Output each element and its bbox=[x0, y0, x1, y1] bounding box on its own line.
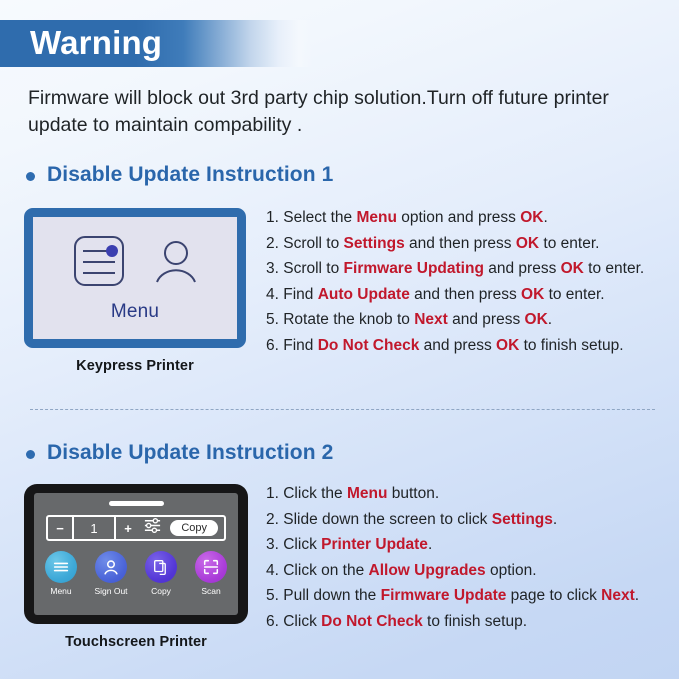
step-text: and press bbox=[448, 311, 525, 328]
step-text: to enter. bbox=[539, 235, 599, 252]
instruction-step: 5. Pull down the Firmware Update page to… bbox=[266, 583, 678, 609]
step-keyword: OK bbox=[561, 260, 584, 277]
step-text: and then press bbox=[405, 235, 516, 252]
keypress-screen-icons bbox=[71, 233, 199, 294]
step-text: option. bbox=[486, 562, 537, 579]
keypress-printer-screen: Menu bbox=[33, 217, 237, 339]
section-heading-1-label: Disable Update Instruction 1 bbox=[47, 163, 333, 187]
app-scan-label: Scan bbox=[201, 587, 220, 596]
banner-title: Warning bbox=[30, 20, 162, 67]
instruction-step: 1. Click the Menu button. bbox=[266, 481, 678, 507]
step-keyword: Settings bbox=[492, 511, 553, 528]
keypress-printer-figure: Menu Keypress Printer bbox=[24, 208, 246, 374]
instruction-step: 5. Rotate the knob to Next and press OK. bbox=[266, 307, 678, 333]
section-heading-1: Disable Update Instruction 1 bbox=[26, 163, 333, 187]
keypress-printer-caption: Keypress Printer bbox=[24, 358, 246, 374]
step-keyword: OK bbox=[521, 286, 544, 303]
instruction-step: 3. Scroll to Firmware Updating and press… bbox=[266, 256, 678, 282]
step-keyword: Menu bbox=[347, 485, 387, 502]
step-keyword: Next bbox=[601, 587, 635, 604]
step-number: 1. bbox=[266, 485, 283, 502]
step-keyword: Firmware Updating bbox=[344, 260, 484, 277]
step-keyword: Printer Update bbox=[321, 536, 428, 553]
app-menu-label: Menu bbox=[50, 587, 71, 596]
app-copy[interactable]: Copy bbox=[144, 551, 179, 596]
step-text: to finish setup. bbox=[519, 337, 623, 354]
step-number: 3. bbox=[266, 260, 283, 277]
touchscreen-toolbar: − 1 + bbox=[46, 515, 226, 541]
step-text: to finish setup. bbox=[423, 613, 527, 630]
instruction-step: 6. Click Do Not Check to finish setup. bbox=[266, 609, 678, 635]
step-text: button. bbox=[387, 485, 439, 502]
intro-paragraph: Firmware will block out 3rd party chip s… bbox=[28, 85, 628, 139]
step-text: Pull down the bbox=[283, 587, 380, 604]
step-number: 6. bbox=[266, 337, 283, 354]
step-text: and press bbox=[419, 337, 496, 354]
step-text: Click the bbox=[283, 485, 347, 502]
hamburger-icon[interactable] bbox=[45, 551, 77, 583]
touchscreen-app-row: Menu Sign Out bbox=[44, 551, 229, 596]
step-text: option and press bbox=[397, 209, 520, 226]
step-keyword: OK bbox=[496, 337, 519, 354]
step-number: 5. bbox=[266, 311, 283, 328]
settings-sliders-icon[interactable] bbox=[143, 516, 162, 540]
step-number: 2. bbox=[266, 511, 283, 528]
bullet-icon bbox=[26, 172, 35, 181]
step-number: 4. bbox=[266, 562, 283, 579]
step-keyword: Do Not Check bbox=[318, 337, 420, 354]
step-keyword: OK bbox=[516, 235, 539, 252]
section-divider bbox=[30, 409, 655, 410]
warning-instruction-page: Warning Firmware will block out 3rd part… bbox=[0, 0, 679, 679]
step-text: . bbox=[543, 209, 547, 226]
step-keyword: OK bbox=[520, 209, 543, 226]
copy-button[interactable]: Copy bbox=[170, 520, 218, 536]
app-sign-out-label: Sign Out bbox=[94, 587, 127, 596]
step-keyword: Do Not Check bbox=[321, 613, 423, 630]
step-number: 2. bbox=[266, 235, 283, 252]
step-text: Slide down the screen to click bbox=[283, 511, 492, 528]
step-text: to enter. bbox=[584, 260, 644, 277]
stepper-value: 1 bbox=[74, 517, 114, 539]
step-text: Rotate the knob to bbox=[283, 311, 414, 328]
instruction-step: 6. Find Do Not Check and press OK to fin… bbox=[266, 333, 678, 359]
touchscreen-printer-figure: − 1 + bbox=[24, 484, 248, 650]
step-text: . bbox=[548, 311, 552, 328]
step-text: . bbox=[428, 536, 432, 553]
menu-list-icon bbox=[71, 233, 127, 294]
step-text: Find bbox=[283, 286, 317, 303]
step-text: to enter. bbox=[544, 286, 604, 303]
keypress-screen-menu-label: Menu bbox=[111, 301, 159, 323]
app-scan[interactable]: Scan bbox=[194, 551, 229, 596]
section-heading-2: Disable Update Instruction 2 bbox=[26, 441, 333, 465]
section-heading-2-label: Disable Update Instruction 2 bbox=[47, 441, 333, 465]
touchscreen-printer-screen: − 1 + bbox=[34, 493, 238, 615]
stepper-increment-button[interactable]: + bbox=[114, 517, 140, 539]
step-text: . bbox=[635, 587, 639, 604]
touchscreen-printer-caption: Touchscreen Printer bbox=[24, 634, 248, 650]
step-number: 6. bbox=[266, 613, 283, 630]
instruction-step: 4. Find Auto Update and then press OK to… bbox=[266, 282, 678, 308]
step-text: Scroll to bbox=[283, 260, 343, 277]
app-menu[interactable]: Menu bbox=[44, 551, 79, 596]
instruction-step: 2. Slide down the screen to click Settin… bbox=[266, 507, 678, 533]
step-number: 1. bbox=[266, 209, 283, 226]
person-icon[interactable] bbox=[95, 551, 127, 583]
step-text: . bbox=[553, 511, 557, 528]
person-icon bbox=[153, 236, 199, 291]
step-text: Find bbox=[283, 337, 317, 354]
instruction-step: 3. Click Printer Update. bbox=[266, 532, 678, 558]
step-text: Select the bbox=[283, 209, 356, 226]
step-keyword: Next bbox=[414, 311, 448, 328]
step-keyword: OK bbox=[525, 311, 548, 328]
step-keyword: Allow Upgrades bbox=[369, 562, 486, 579]
instruction-list-2: 1. Click the Menu button.2. Slide down t… bbox=[266, 481, 678, 635]
step-text: Scroll to bbox=[283, 235, 343, 252]
app-copy-label: Copy bbox=[151, 587, 171, 596]
step-keyword: Settings bbox=[344, 235, 405, 252]
step-number: 3. bbox=[266, 536, 283, 553]
step-text: Click on the bbox=[283, 562, 368, 579]
instruction-step: 1. Select the Menu option and press OK. bbox=[266, 205, 678, 231]
step-keyword: Firmware Update bbox=[381, 587, 507, 604]
step-text: Click bbox=[283, 536, 321, 553]
instruction-step: 2. Scroll to Settings and then press OK … bbox=[266, 231, 678, 257]
keypress-printer-frame: Menu bbox=[24, 208, 246, 348]
scan-frame-icon[interactable] bbox=[195, 551, 227, 583]
touchscreen-printer-bezel: − 1 + bbox=[24, 484, 248, 624]
stepper-decrement-button[interactable]: − bbox=[48, 517, 74, 539]
instruction-step: 4. Click on the Allow Upgrades option. bbox=[266, 558, 678, 584]
step-text: page to click bbox=[506, 587, 601, 604]
speaker-bar-icon bbox=[109, 501, 164, 506]
step-keyword: Menu bbox=[356, 209, 396, 226]
instruction-list-1: 1. Select the Menu option and press OK.2… bbox=[266, 205, 678, 359]
toolbar-actions: Copy bbox=[143, 516, 218, 540]
app-sign-out[interactable]: Sign Out bbox=[94, 551, 129, 596]
step-number: 5. bbox=[266, 587, 283, 604]
documents-icon[interactable] bbox=[145, 551, 177, 583]
copies-stepper[interactable]: − 1 + bbox=[48, 517, 140, 539]
bullet-icon bbox=[26, 450, 35, 459]
step-text: and then press bbox=[410, 286, 521, 303]
step-number: 4. bbox=[266, 286, 283, 303]
step-text: Click bbox=[283, 613, 321, 630]
step-text: and press bbox=[484, 260, 561, 277]
step-keyword: Auto Update bbox=[318, 286, 410, 303]
